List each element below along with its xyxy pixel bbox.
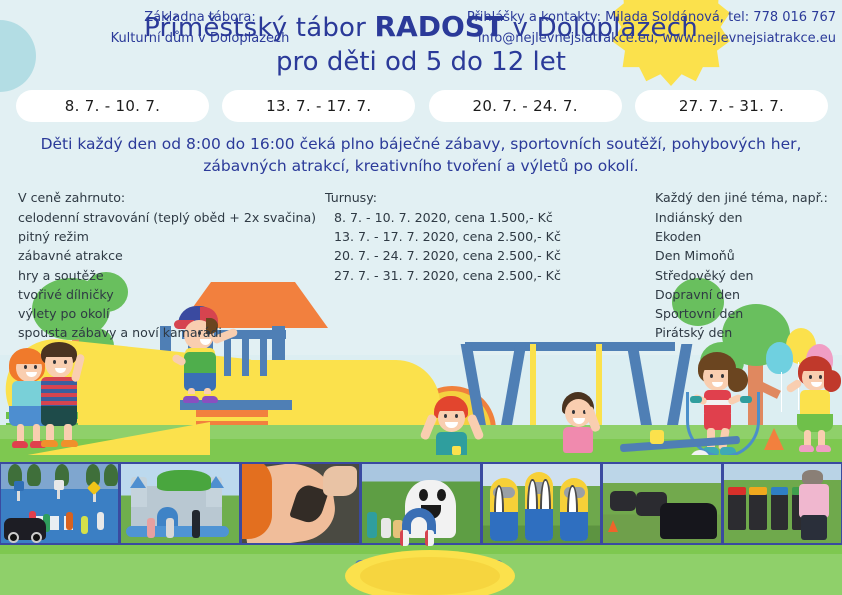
photo-bouncy-castle xyxy=(121,464,238,543)
shorts xyxy=(41,406,77,426)
rope-handle xyxy=(690,396,702,403)
bin-lid xyxy=(728,487,746,495)
included-item: spousta zábavy a noví kamarádi xyxy=(18,323,328,342)
shoe xyxy=(400,530,409,546)
contact-phone-line: Přihlášky a kontakty: Milada Soldánová, … xyxy=(416,8,836,29)
shoe xyxy=(799,445,814,452)
traffic-sign-icon xyxy=(54,480,64,490)
child-figure xyxy=(81,516,88,534)
traffic-cone-icon xyxy=(764,428,784,450)
bin-lid xyxy=(749,487,767,495)
theme-item: Ekoden xyxy=(655,227,840,246)
wheel xyxy=(31,532,42,543)
eye xyxy=(444,414,447,418)
striped-shirt xyxy=(41,377,77,409)
tree xyxy=(104,464,118,486)
shoe xyxy=(425,530,434,546)
hair-fringe xyxy=(435,398,468,411)
theme-item: Sportovní den xyxy=(655,304,840,323)
balloon-string xyxy=(781,372,782,412)
session-item: 27. 7. - 31. 7. 2020, cena 2.500,- Kč xyxy=(325,266,645,285)
eye xyxy=(53,360,56,364)
tshirt xyxy=(563,427,593,453)
date-pill-group: 8. 7. - 10. 7. 13. 7. - 17. 7. 20. 7. - … xyxy=(16,90,828,122)
child-figure xyxy=(97,512,104,530)
recycling-bin xyxy=(728,494,746,530)
included-item: zábavné atrakce xyxy=(18,246,328,265)
photo-minions-mascots xyxy=(483,464,600,543)
column-sessions: Turnusy: 8. 7. - 10. 7. 2020, cena 1.500… xyxy=(325,188,645,285)
included-heading: V ceně zahrnuto: xyxy=(18,188,328,207)
shoe xyxy=(12,441,28,448)
traffic-sign-icon xyxy=(14,481,24,491)
eye xyxy=(710,374,713,378)
person-figure xyxy=(147,518,155,538)
included-item: celodenní stravování (teplý oběd + 2x sv… xyxy=(18,208,328,227)
included-item: tvořivé dílničky xyxy=(18,285,328,304)
seesaw-marker xyxy=(650,430,664,444)
recycling-bin xyxy=(771,494,789,530)
person-figure xyxy=(192,510,200,538)
eye xyxy=(819,375,822,379)
swing-top-bar xyxy=(465,342,675,351)
photo-recycling-game xyxy=(724,464,841,543)
dragon-figure xyxy=(157,470,211,491)
crosswalk-stripe xyxy=(50,516,59,530)
shirt-pocket xyxy=(452,446,461,455)
theme-item: Dopravní den xyxy=(655,285,840,304)
date-pill-3[interactable]: 20. 7. - 24. 7. xyxy=(429,90,622,122)
artist-hand xyxy=(323,466,357,496)
skirt xyxy=(797,414,833,432)
child-figure xyxy=(66,512,73,530)
contact-email-line[interactable]: info@nejlevnejsiatrakce.eu, www.nejlevne… xyxy=(416,29,836,50)
theme-item: Den Mimoňů xyxy=(655,246,840,265)
minion-mascot xyxy=(525,472,553,542)
included-item: výlety po okolí xyxy=(18,304,328,323)
tree xyxy=(27,464,41,486)
bin-lid xyxy=(771,487,789,495)
camp-base-label: Základna tábora: xyxy=(40,8,360,29)
session-item: 20. 7. - 24. 7. 2020, cena 2.500,- Kč xyxy=(325,246,645,265)
themes-heading: Každý den jiné téma, např.: xyxy=(655,188,840,207)
column-included: V ceně zahrnuto: celodenní stravování (t… xyxy=(18,188,328,342)
session-item: 13. 7. - 17. 7. 2020, cena 2.500,- Kč xyxy=(325,227,645,246)
person-figure xyxy=(166,518,174,538)
castle-spire xyxy=(130,476,146,488)
camp-base-value: Kulturní dům v Doloplazech xyxy=(40,29,360,50)
intro-line-2: zábavných atrakcí, kreativního tvoření a… xyxy=(0,155,842,177)
date-pill-2[interactable]: 13. 7. - 17. 7. xyxy=(222,90,415,122)
minion-mascot xyxy=(560,478,588,541)
kid-boy-slide xyxy=(424,396,482,462)
shoe xyxy=(41,440,58,447)
kid-girl-balloons xyxy=(790,356,842,456)
ponytail xyxy=(728,368,748,392)
session-item: 8. 7. - 10. 7. 2020, cena 1.500,- Kč xyxy=(325,208,645,227)
photo-quad-bikes xyxy=(603,464,720,543)
eye xyxy=(64,360,67,364)
shoe xyxy=(183,396,199,403)
overalls xyxy=(490,512,518,541)
child-figure xyxy=(381,518,391,538)
date-pill-1[interactable]: 8. 7. - 10. 7. xyxy=(16,90,209,122)
eye xyxy=(455,414,458,418)
shoe xyxy=(816,445,831,452)
eye xyxy=(721,374,724,378)
shoe xyxy=(61,440,78,447)
theme-item: Pirátský den xyxy=(655,323,840,342)
toy-car xyxy=(4,518,46,540)
minion-mascot xyxy=(490,478,518,541)
child-figure xyxy=(367,512,377,538)
balloon-blue xyxy=(766,342,793,374)
pink-shirt xyxy=(799,484,830,517)
ride-on-jeep xyxy=(660,503,716,539)
included-item: pitný režim xyxy=(18,227,328,246)
jeans xyxy=(801,515,827,540)
girl-figure xyxy=(799,470,830,540)
column-themes: Každý den jiné téma, např.: Indiánský de… xyxy=(655,188,840,342)
castle-base xyxy=(126,526,229,537)
ponytail xyxy=(824,370,841,392)
title-line-2: pro děti od 5 do 12 let xyxy=(0,47,842,79)
photo-henna-tattoo xyxy=(242,464,359,543)
poster-root: Příměstský tábor RADOST v Doloplazech pr… xyxy=(0,0,842,595)
eye xyxy=(24,365,27,369)
kid-boy-waving xyxy=(556,392,608,462)
overalls xyxy=(525,509,553,541)
shoe xyxy=(202,396,218,403)
kid-boy-left xyxy=(36,340,96,448)
rope-handle xyxy=(740,396,752,403)
trampoline-mat xyxy=(360,557,500,595)
theme-item: Indiánský den xyxy=(655,208,840,227)
theme-item: Středověký den xyxy=(655,266,840,285)
wheel xyxy=(8,532,19,543)
jumping-child xyxy=(398,508,438,552)
sessions-heading: Turnusy: xyxy=(325,188,645,207)
recycling-bin xyxy=(749,494,767,530)
eye xyxy=(572,410,575,414)
eye xyxy=(809,375,812,379)
intro-line-1: Děti každý den od 8:00 do 16:00 čeká pln… xyxy=(0,133,842,155)
contact-info: Přihlášky a kontakty: Milada Soldánová, … xyxy=(416,8,836,50)
date-pill-4[interactable]: 27. 7. - 31. 7. xyxy=(635,90,828,122)
ghost-eye xyxy=(419,489,428,501)
arm-raised xyxy=(466,413,484,440)
photo-traffic-playground xyxy=(1,464,118,543)
camp-base-info: Základna tábora: Kulturní dům v Doloplaz… xyxy=(40,8,360,50)
traffic-cone-icon xyxy=(608,520,618,532)
intro-paragraph: Děti každý den od 8:00 do 16:00 čeká pln… xyxy=(0,133,842,178)
overalls xyxy=(560,512,588,541)
orange-sleeve xyxy=(242,464,272,539)
quad-bike xyxy=(610,491,636,512)
included-item: hry a soutěže xyxy=(18,266,328,285)
